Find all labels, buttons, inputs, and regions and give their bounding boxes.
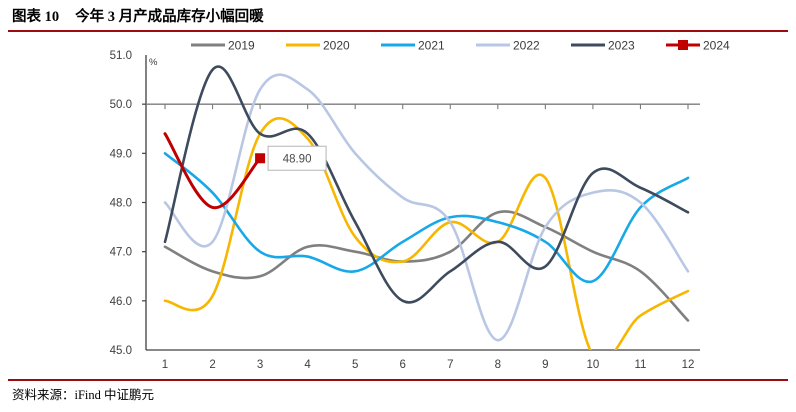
legend-marker-2024 — [678, 40, 688, 50]
page-title: 今年 3 月产成品库存小幅回暖 — [75, 5, 264, 26]
x-tick-label: 10 — [587, 359, 600, 371]
y-tick-label: 45.0 — [110, 345, 132, 357]
series-line-2022 — [165, 75, 688, 341]
line-chart: 51.050.049.048.047.046.045.0%12345678910… — [0, 33, 796, 378]
legend-item-2024[interactable]: 2024 — [666, 39, 730, 53]
legend-item-2020[interactable]: 2020 — [286, 39, 350, 53]
y-tick-label: 50.0 — [110, 99, 132, 111]
y-tick-label: 48.0 — [110, 198, 132, 210]
x-tick-label: 12 — [682, 359, 695, 371]
y-tick-label: 47.0 — [110, 247, 132, 259]
x-tick-label: 4 — [304, 359, 311, 371]
legend-item-2019[interactable]: 2019 — [191, 39, 255, 53]
series-line-2021 — [165, 153, 688, 282]
data-label-text: 48.90 — [283, 153, 312, 165]
legend-label-2020: 2020 — [323, 39, 350, 53]
series-line-2020 — [165, 118, 688, 361]
x-tick-label: 1 — [162, 359, 168, 371]
figure-number: 图表 10 — [12, 5, 59, 26]
figure-header: 图表 10 今年 3 月产成品库存小幅回暖 — [0, 0, 796, 31]
x-tick-label: 7 — [447, 359, 453, 371]
legend-label-2022: 2022 — [513, 39, 540, 53]
source-note: 资料来源：iFind 中证鹏元 — [12, 384, 154, 403]
y-tick-label: 46.0 — [110, 296, 132, 308]
x-tick-label: 8 — [495, 359, 501, 371]
figure-page: 图表 10 今年 3 月产成品库存小幅回暖 51.050.049.048.047… — [0, 0, 796, 412]
legend-label-2024: 2024 — [703, 39, 730, 53]
x-tick-label: 9 — [542, 359, 548, 371]
x-tick-label: 3 — [257, 359, 263, 371]
footer-divider — [8, 379, 788, 381]
legend-item-2023[interactable]: 2023 — [571, 39, 635, 53]
chart-container: 51.050.049.048.047.046.045.0%12345678910… — [0, 33, 796, 378]
data-point-marker-2024 — [255, 153, 265, 163]
x-tick-label: 5 — [352, 359, 358, 371]
legend-item-2022[interactable]: 2022 — [476, 39, 540, 53]
legend-label-2021: 2021 — [418, 39, 445, 53]
y-tick-label: 51.0 — [110, 50, 132, 62]
legend-label-2023: 2023 — [608, 39, 635, 53]
y-tick-label: 49.0 — [110, 148, 132, 160]
x-tick-label: 11 — [634, 359, 646, 371]
legend-item-2021[interactable]: 2021 — [381, 39, 445, 53]
y-axis-unit-label: % — [149, 57, 158, 68]
x-tick-label: 6 — [400, 359, 406, 371]
x-tick-label: 2 — [209, 359, 215, 371]
legend-label-2019: 2019 — [228, 39, 255, 53]
header-divider — [8, 30, 788, 32]
series-group — [165, 67, 688, 362]
